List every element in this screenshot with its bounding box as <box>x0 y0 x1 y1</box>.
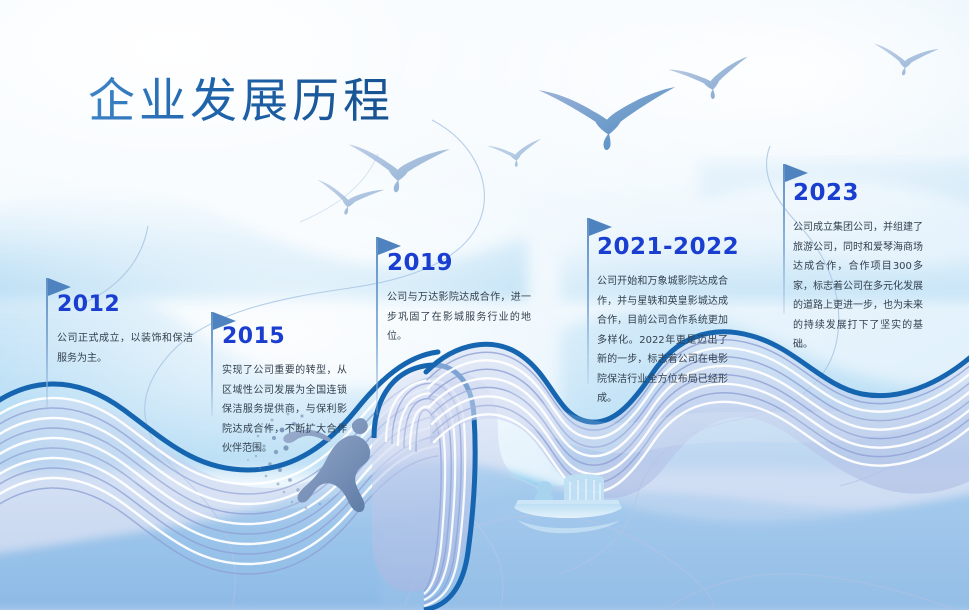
milestone-2019: 2019 公司与万达影院达成合作，进一步巩固了在影城服务行业的地位。 <box>387 252 531 347</box>
flag-pole <box>46 278 48 410</box>
milestone-2012: 2012 公司正式成立，以装饰和保洁服务为主。 <box>57 294 193 368</box>
milestone-2023: 2023 公司成立集团公司，并组建了旅游公司，同时和爱琴海商场达成合作，合作项目… <box>793 182 923 355</box>
flag-pole <box>376 237 378 415</box>
milestone-year: 2019 <box>387 252 531 275</box>
milestone-description: 公司正式成立，以装饰和保洁服务为主。 <box>57 329 193 368</box>
milestone-year: 2015 <box>222 326 347 348</box>
milestone-description: 公司开始和万象城影院达成合作，并与星轶和英皇影城达成合作，目前公司合作系统更加多… <box>597 272 728 409</box>
flag-pole <box>211 312 213 416</box>
milestone-year: 2021-2022 <box>597 236 728 259</box>
milestone-description: 实现了公司重要的转型，从区域性公司发展为全国连锁保洁服务提供商，与保利影院达成合… <box>222 361 347 459</box>
milestone-2015: 2015 实现了公司重要的转型，从区域性公司发展为全国连锁保洁服务提供商，与保利… <box>222 326 347 459</box>
milestone-year: 2012 <box>57 294 193 316</box>
milestone-year: 2023 <box>793 182 923 205</box>
milestone-2021-2022: 2021-2022 公司开始和万象城影院达成合作，并与星轶和英皇影城达成合作，目… <box>597 236 728 409</box>
infographic-canvas: 企业发展历程 2012 公司正式成立，以装饰和保洁服务为主。 2015 实现了公… <box>0 0 969 610</box>
fishing-boat-icon <box>510 474 622 533</box>
flag-pole <box>587 218 589 384</box>
milestone-description: 公司与万达影院达成合作，进一步巩固了在影城服务行业的地位。 <box>387 288 531 347</box>
page-title: 企业发展历程 <box>88 62 394 131</box>
flag-pole <box>783 164 785 314</box>
milestone-description: 公司成立集团公司，并组建了旅游公司，同时和爱琴海商场达成合作，合作项目300多家… <box>793 218 923 355</box>
